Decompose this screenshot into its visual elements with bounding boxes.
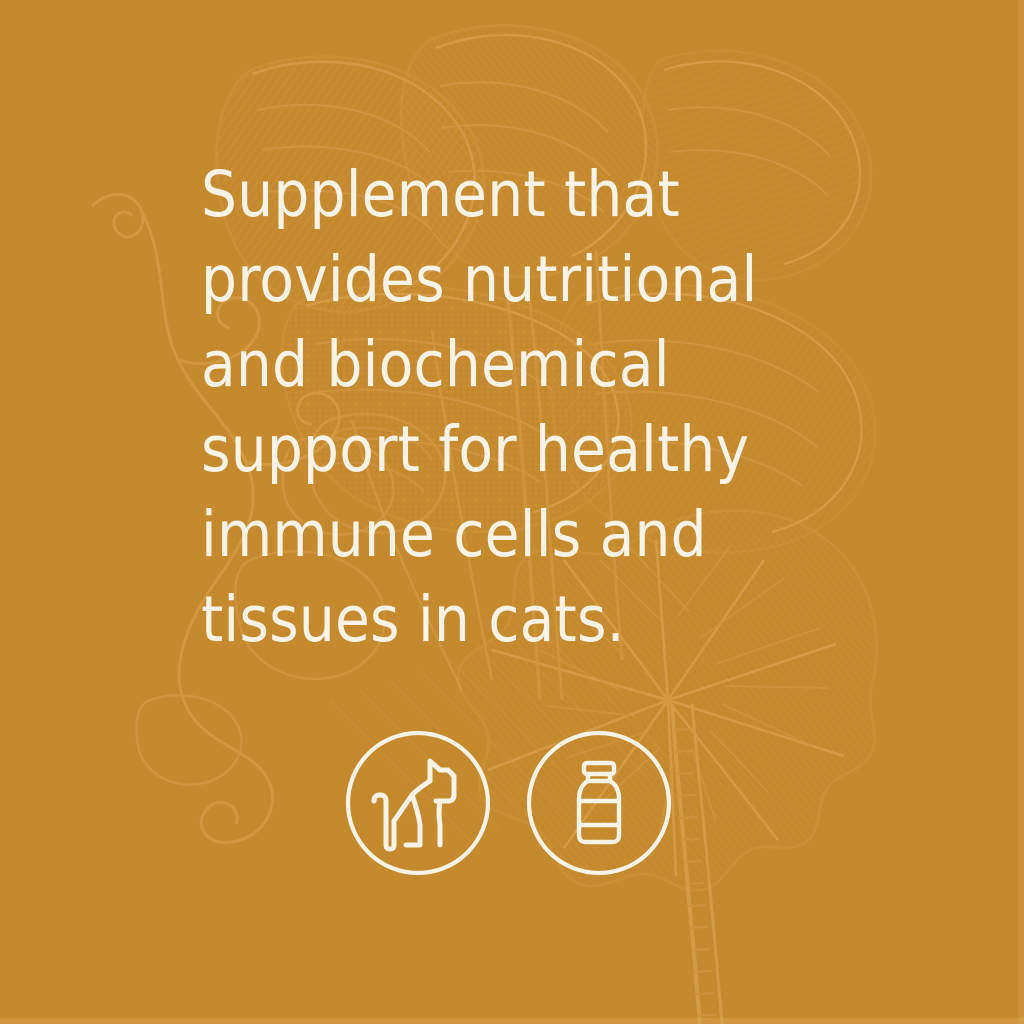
icon-row: [344, 729, 673, 877]
cat-icon: [344, 729, 492, 877]
headline-text: Supplement that provides nutritional and…: [201, 152, 901, 662]
promo-card: Supplement that provides nutritional and…: [0, 0, 1024, 1024]
supplement-bottle-icon: [525, 729, 673, 877]
